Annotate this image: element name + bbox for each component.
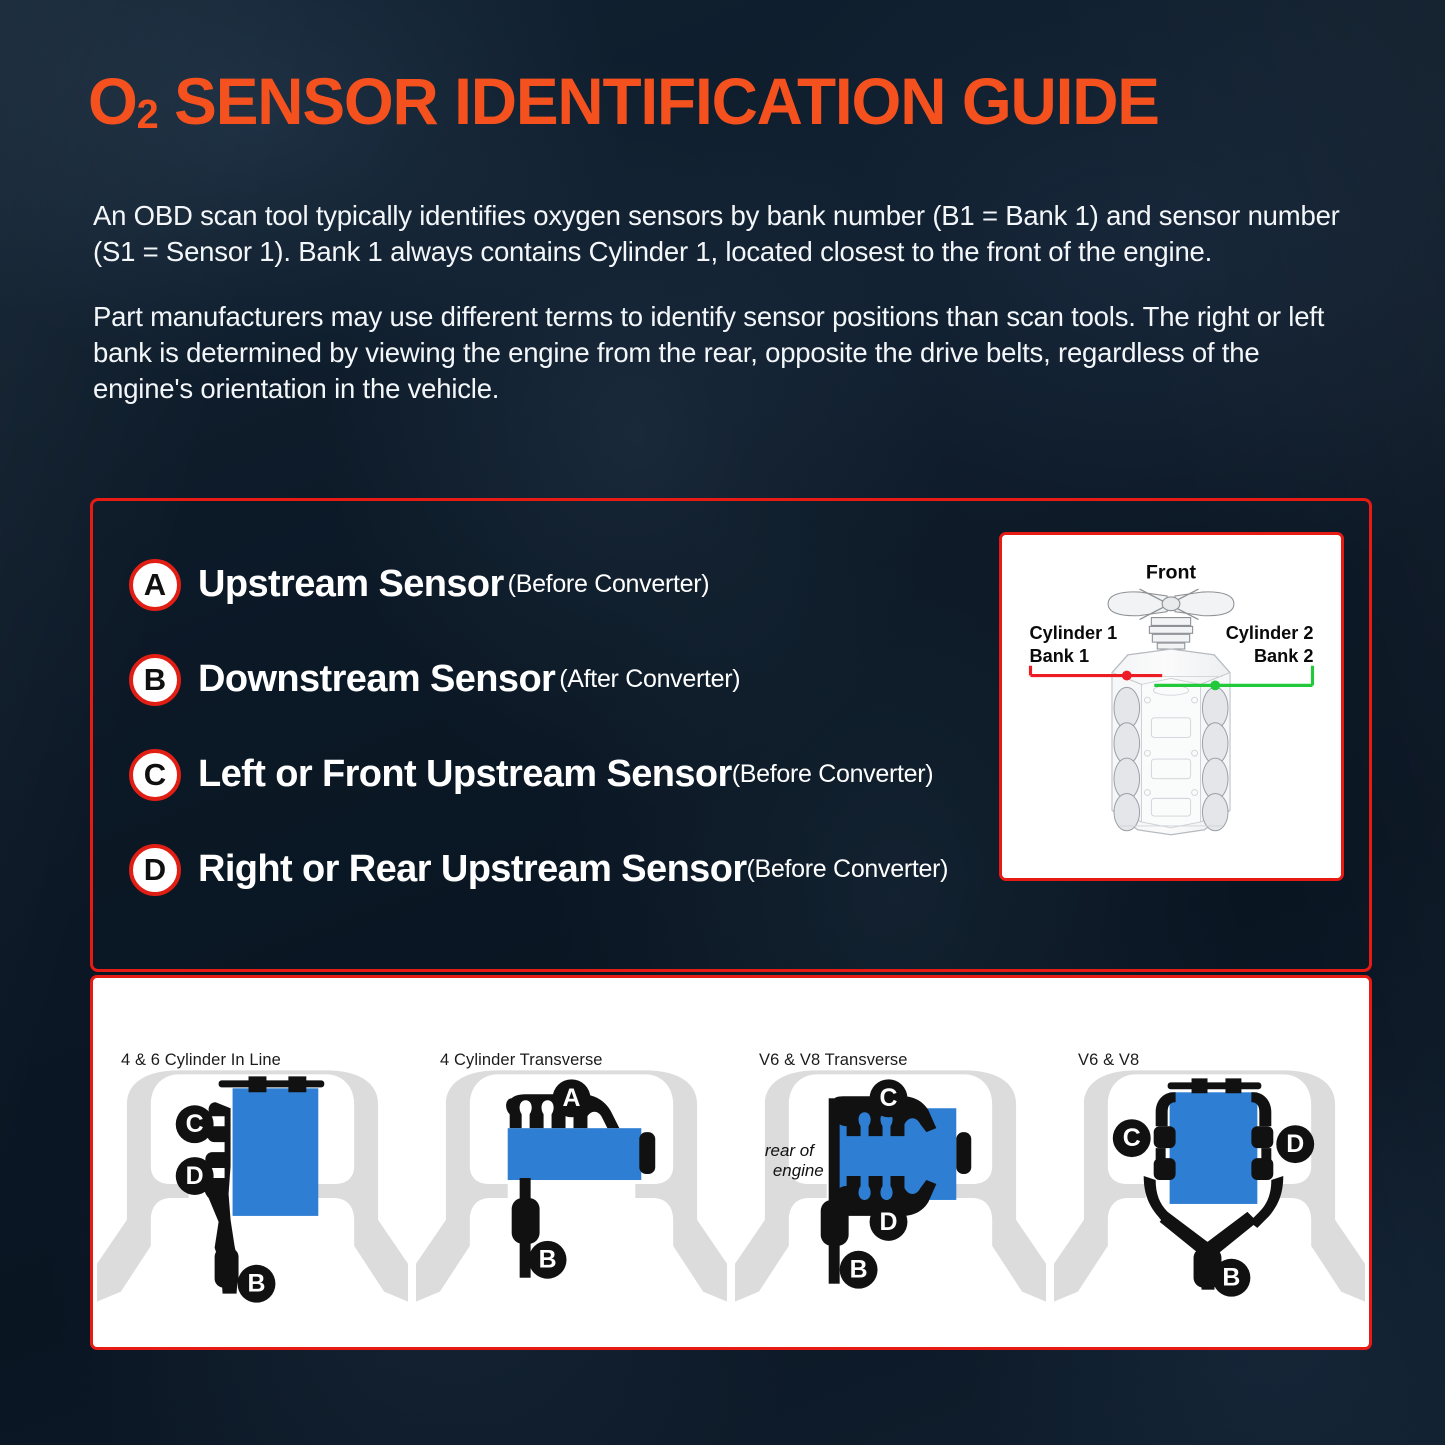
svg-text:C: C [186, 1110, 204, 1138]
svg-text:C: C [880, 1084, 898, 1112]
svg-text:B: B [539, 1246, 557, 1274]
diagram-row: 4 & 6 Cylinder In Line [93, 978, 1369, 1347]
legend-item-c: C Left or Front Upstream Sensor (Before … [129, 727, 1009, 822]
transmission-housing [639, 1132, 655, 1174]
diagram-badge-d: D [870, 1203, 908, 1241]
diagram-badge-c: C [1113, 1119, 1151, 1157]
svg-text:B: B [247, 1270, 265, 1298]
diagram-title-inline: 4 & 6 Cylinder In Line [121, 1051, 281, 1070]
diagram-badge-d: D [176, 1157, 214, 1195]
engine-bank-diagram-card: Front Cylinder 1 Bank 1 Cylinder 2 Bank … [999, 532, 1344, 881]
svg-text:B: B [1222, 1264, 1240, 1292]
bank-1-pointer-dot [1122, 671, 1132, 681]
badge-c: C [129, 749, 181, 801]
legend-note-b: (After Converter) [559, 665, 740, 694]
badge-b: B [129, 654, 181, 706]
engine-block-blue [1170, 1092, 1258, 1204]
title-rest: SENSOR IDENTIFICATION GUIDE [158, 64, 1159, 138]
legend-item-b: B Downstream Sensor (After Converter) [129, 632, 1009, 727]
bank-2-label: Bank 2 [1254, 646, 1314, 666]
legend-note-c: (Before Converter) [732, 760, 934, 789]
svg-text:D: D [880, 1208, 898, 1236]
diagram-title-transverse-4: 4 Cylinder Transverse [440, 1051, 603, 1070]
diagram-badge-a: A [553, 1079, 591, 1117]
diagram-art-transverse-4: A B [412, 1070, 731, 1305]
engine-configuration-panel: 4 & 6 Cylinder In Line [90, 975, 1372, 1350]
diagram-badge-b: B [840, 1251, 878, 1289]
legend-item-d: D Right or Rear Upstream Sensor (Before … [129, 822, 1009, 917]
legend-item-a: A Upstream Sensor (Before Converter) [129, 537, 1009, 632]
engine-front-label: Front [1146, 561, 1197, 583]
legend-label-d: Right or Rear Upstream Sensor [198, 848, 747, 891]
diagram-title-v6v8-transverse: V6 & V8 Transverse [759, 1051, 908, 1070]
diagram-inline-4-6: 4 & 6 Cylinder In Line [93, 978, 412, 1347]
diagram-title-v6v8: V6 & V8 [1078, 1051, 1139, 1070]
rear-of-engine-label-line2: engine [773, 1161, 824, 1180]
bank-2-pointer-dot [1210, 680, 1220, 690]
diagram-badge-b: B [238, 1265, 276, 1303]
cylinder-1-label: Cylinder 1 [1030, 623, 1118, 643]
diagram-art-inline: C D B [93, 1070, 412, 1305]
diagram-v6-v8-transverse: V6 & V8 Transverse [731, 978, 1050, 1347]
legend-label-a: Upstream Sensor [198, 563, 504, 606]
legend-panel: A Upstream Sensor (Before Converter) B D… [90, 498, 1372, 972]
intro-paragraph-1: An OBD scan tool typically identifies ox… [93, 198, 1363, 271]
svg-text:C: C [1123, 1124, 1141, 1152]
cylinder-2-label: Cylinder 2 [1226, 623, 1314, 643]
legend-label-c: Left or Front Upstream Sensor [198, 753, 732, 796]
diagram-art-v6v8: C D B [1050, 1070, 1369, 1305]
svg-text:B: B [850, 1256, 868, 1284]
page-title: O2 SENSOR IDENTIFICATION GUIDE [88, 68, 1159, 134]
title-subscript: 2 [137, 91, 158, 137]
svg-text:A: A [563, 1084, 581, 1112]
badge-a: A [129, 559, 181, 611]
transmission-housing [956, 1132, 971, 1174]
engine-fan-icon [1168, 1078, 1262, 1093]
engine-block-blue [508, 1128, 642, 1180]
diagram-badge-c: C [176, 1105, 214, 1143]
legend-label-b: Downstream Sensor [198, 658, 555, 701]
diagram-badge-c: C [870, 1079, 908, 1117]
diagram-badge-b: B [1212, 1259, 1250, 1297]
diagram-art-v6v8-transverse: rear of engine C D B [731, 1070, 1050, 1305]
svg-text:D: D [1286, 1130, 1304, 1158]
svg-text:D: D [186, 1162, 204, 1190]
legend-note-d: (Before Converter) [747, 855, 949, 884]
engine-bank-diagram: Front Cylinder 1 Bank 1 Cylinder 2 Bank … [1002, 535, 1341, 878]
diagram-v6-v8: V6 & V8 [1050, 978, 1369, 1347]
intro-paragraph-2: Part manufacturers may use different ter… [93, 299, 1363, 408]
diagram-transverse-4: 4 Cylinder Transverse [412, 978, 731, 1347]
engine-block-blue [233, 1088, 319, 1216]
diagram-badge-d: D [1276, 1125, 1314, 1163]
intro-text: An OBD scan tool typically identifies ox… [93, 198, 1363, 407]
rear-of-engine-label-line1: rear of [765, 1141, 816, 1160]
legend-note-a: (Before Converter) [508, 570, 710, 599]
legend-list: A Upstream Sensor (Before Converter) B D… [129, 537, 1009, 917]
bank-1-label: Bank 1 [1030, 646, 1090, 666]
diagram-badge-b: B [529, 1241, 567, 1279]
badge-d: D [129, 844, 181, 896]
title-prefix: O [88, 64, 137, 138]
